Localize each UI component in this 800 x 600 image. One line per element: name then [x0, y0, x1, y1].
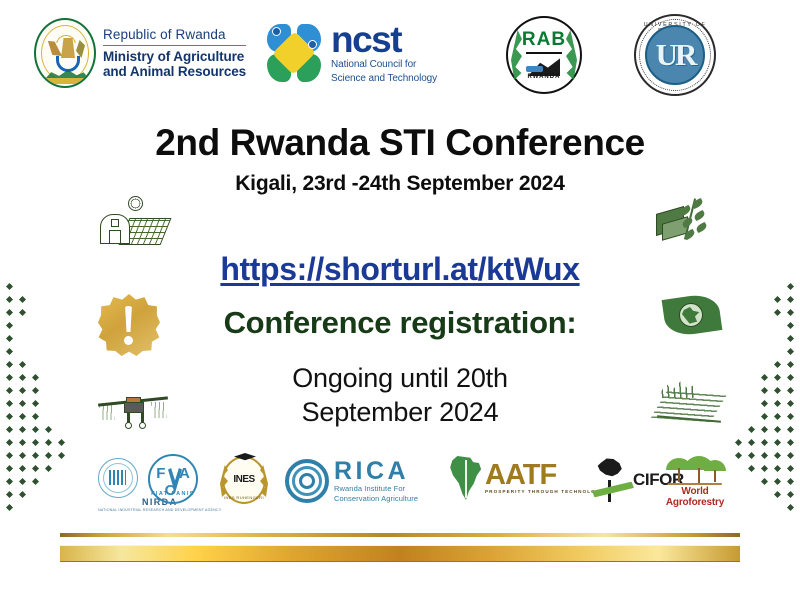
diamond-dot — [32, 426, 39, 433]
diamond-dot — [6, 400, 13, 407]
agroforestry-line-2: Agroforestry — [664, 497, 726, 508]
rab-footer-text: RWANDA — [506, 74, 582, 80]
africa-map-icon — [448, 456, 484, 500]
rica-name: RICA — [334, 458, 418, 484]
diamond-dot — [787, 439, 794, 446]
diamond-dot — [748, 426, 755, 433]
ncst-node-dot-2 — [308, 40, 317, 49]
rica-subtitle-line-1: Rwanda Institute For — [334, 484, 418, 494]
diamond-dot — [6, 309, 13, 316]
diamond-dot — [19, 361, 26, 368]
diamond-dot — [787, 413, 794, 420]
plant-leaf-3 — [693, 210, 706, 221]
diamond-dot — [774, 309, 781, 316]
diamond-dot — [6, 283, 13, 290]
ur-monogram: UR — [647, 27, 703, 83]
diamond-dot — [19, 426, 26, 433]
fao-emblem-icon: F A O FIAT PANIS — [148, 454, 198, 504]
ur-inner-disc: UR — [645, 25, 705, 85]
diamond-dot — [761, 439, 768, 446]
diamond-dot — [774, 400, 781, 407]
diamond-dot — [6, 335, 13, 342]
conference-poster: Republic of Rwanda Ministry of Agricultu… — [0, 0, 800, 600]
diamond-dot — [6, 426, 13, 433]
logo-fao: F A O FIAT PANIS — [148, 454, 198, 504]
diamond-dot — [761, 413, 768, 420]
ncst-subtitle-line-1: National Council for — [331, 58, 437, 72]
rab-divider — [526, 52, 562, 54]
green-swash-icon — [591, 481, 634, 497]
field-crops — [656, 380, 698, 398]
diamond-dot — [32, 400, 39, 407]
diamond-dot — [45, 439, 52, 446]
nirda-emblem-icon — [98, 458, 138, 498]
leaf-globe-icon — [664, 296, 720, 334]
diamond-dot — [761, 374, 768, 381]
crop-field-icon — [652, 378, 724, 426]
rwanda-national-emblem-icon — [34, 18, 96, 88]
logo-university-of-rwanda: UNIVERSITY OF RWANDA UR — [634, 14, 716, 96]
diamond-dot — [45, 426, 52, 433]
diamond-dot — [19, 387, 26, 394]
barn-window-icon — [111, 219, 119, 227]
diamond-dot — [761, 400, 768, 407]
diamond-dot — [774, 413, 781, 420]
tree-trunk-2 — [698, 468, 700, 484]
ncst-node-dot-1 — [272, 27, 281, 36]
ncst-wordmark: ncst — [331, 21, 437, 58]
diamond-dot — [748, 439, 755, 446]
diamond-dot — [6, 361, 13, 368]
diamond-dot — [774, 387, 781, 394]
ministry-line-name-a: Ministry of Agriculture — [103, 49, 246, 64]
tree-trunk-1 — [678, 468, 680, 482]
diamond-dot — [19, 374, 26, 381]
globe-circle — [679, 303, 703, 327]
ines-footer-text: INES RUHENGERI — [218, 495, 270, 500]
sprayer-wheel-right — [139, 422, 146, 429]
nirda-bars-icon — [109, 470, 126, 485]
barn-door-icon — [109, 230, 121, 244]
diamond-dot — [787, 374, 794, 381]
ministry-line-name-b: and Animal Resources — [103, 64, 246, 79]
aatf-name: AATF — [485, 461, 605, 490]
spray-left-icon — [99, 404, 115, 420]
ncst-atom-icon — [262, 18, 326, 88]
diamond-dot — [787, 283, 794, 290]
diamond-dot — [6, 322, 13, 329]
nirda-tagline: NATIONAL INDUSTRIAL RESEARCH AND DEVELOP… — [98, 508, 221, 513]
rica-subtitle-line-2: Conservation Agriculture — [334, 494, 418, 504]
ncst-subtitle-line-2: Science and Technology — [331, 72, 437, 86]
aatf-tagline: PROSPERITY THROUGH TECHNOLOGY — [485, 490, 605, 495]
agroforestry-line-1: World — [664, 486, 726, 497]
registration-url-link[interactable]: https://shorturl.at/ktWux — [220, 251, 579, 287]
diamond-dot — [6, 439, 13, 446]
diamond-dot — [774, 439, 781, 446]
ncst-logo-text: ncst National Council for Science and Te… — [331, 21, 437, 85]
alert-badge-icon — [98, 294, 160, 356]
diamond-dot — [774, 296, 781, 303]
logo-ines: INES INES RUHENGERI — [218, 453, 270, 505]
gold-accent-line — [60, 533, 740, 537]
diamond-dot — [787, 348, 794, 355]
diamond-dot — [58, 439, 65, 446]
diamond-dot — [761, 426, 768, 433]
diamond-dot — [19, 296, 26, 303]
acacia-trees-icon — [664, 456, 726, 486]
globe-landmass — [682, 307, 700, 324]
diamond-dot — [6, 296, 13, 303]
diamond-dot — [32, 413, 39, 420]
diamond-dot — [6, 387, 13, 394]
rab-water-icon — [526, 66, 543, 72]
diamond-dot — [787, 335, 794, 342]
plant-leaf-5 — [695, 222, 708, 233]
sprayer-wheel-left — [125, 422, 132, 429]
diamond-dot — [787, 309, 794, 316]
diamond-dot — [774, 361, 781, 368]
diamond-dot — [6, 374, 13, 381]
sun-icon — [128, 196, 143, 211]
ministry-line-country: Republic of Rwanda — [103, 27, 246, 44]
diamond-dot — [774, 426, 781, 433]
emblem-band — [43, 78, 91, 84]
diamond-dot — [32, 439, 39, 446]
top-logo-bar: Republic of Rwanda Ministry of Agricultu… — [0, 6, 800, 104]
logo-aatf: AATF PROSPERITY THROUGH TECHNOLOGY — [448, 456, 605, 500]
diamond-dot — [787, 400, 794, 407]
africa-vein-line — [465, 460, 467, 498]
diamond-dot — [32, 374, 39, 381]
diamond-dot — [32, 387, 39, 394]
ministry-divider — [103, 45, 246, 46]
tree-trunk-3 — [714, 470, 716, 482]
logo-rab: RAB RWANDA — [506, 16, 582, 94]
ministry-logo-text: Republic of Rwanda Ministry of Agricultu… — [103, 27, 246, 79]
farm-barn-sun-icon — [100, 196, 166, 252]
book-plant-sprig-icon — [656, 196, 718, 252]
diamond-dot — [787, 426, 794, 433]
rica-ring-inner — [299, 473, 315, 489]
diamond-dot — [787, 361, 794, 368]
diamond-dot — [787, 322, 794, 329]
rab-acronym: RAB — [506, 29, 582, 51]
ground-line — [668, 483, 722, 485]
exclamation-dot — [124, 336, 133, 345]
partner-logo-bar: NIRDA NATIONAL INDUSTRIAL RESEARCH AND D… — [0, 452, 800, 524]
rica-rings-icon — [285, 459, 329, 503]
diamond-dot — [761, 387, 768, 394]
world-agroforestry-text: World Agroforestry — [664, 486, 726, 508]
diamond-dot — [774, 374, 781, 381]
diamond-dot — [19, 400, 26, 407]
diamond-dot — [19, 413, 26, 420]
logo-rica: RICA Rwanda Institute For Conservation A… — [285, 458, 418, 504]
logo-ministry-of-agriculture: Republic of Rwanda Ministry of Agricultu… — [34, 18, 246, 88]
registration-link-wrapper: https://shorturl.at/ktWux — [0, 251, 800, 288]
diamond-dot — [787, 387, 794, 394]
ines-name: INES — [218, 474, 270, 485]
logo-ncst: ncst National Council for Science and Te… — [262, 18, 437, 88]
diamond-dot — [6, 413, 13, 420]
diamond-dot — [787, 296, 794, 303]
page-title: 2nd Rwanda STI Conference — [0, 122, 800, 164]
diamond-dot — [6, 348, 13, 355]
diamond-dot — [19, 439, 26, 446]
cifor-tree-icon — [588, 458, 634, 502]
spray-right-icon — [151, 402, 167, 418]
rica-text: RICA Rwanda Institute For Conservation A… — [334, 458, 418, 504]
diamond-dot — [19, 309, 26, 316]
logo-world-agroforestry: World Agroforestry — [664, 456, 726, 508]
aatf-text: AATF PROSPERITY THROUGH TECHNOLOGY — [485, 461, 605, 495]
gold-accent-bar — [60, 545, 740, 562]
conference-location-dates: Kigali, 23rd -24th September 2024 — [0, 172, 800, 196]
diamond-dot — [735, 439, 742, 446]
agri-drone-sprayer-icon — [96, 388, 170, 430]
ines-emblem-icon: INES INES RUHENGERI — [218, 453, 270, 505]
fao-motto: FIAT PANIS — [150, 491, 196, 497]
